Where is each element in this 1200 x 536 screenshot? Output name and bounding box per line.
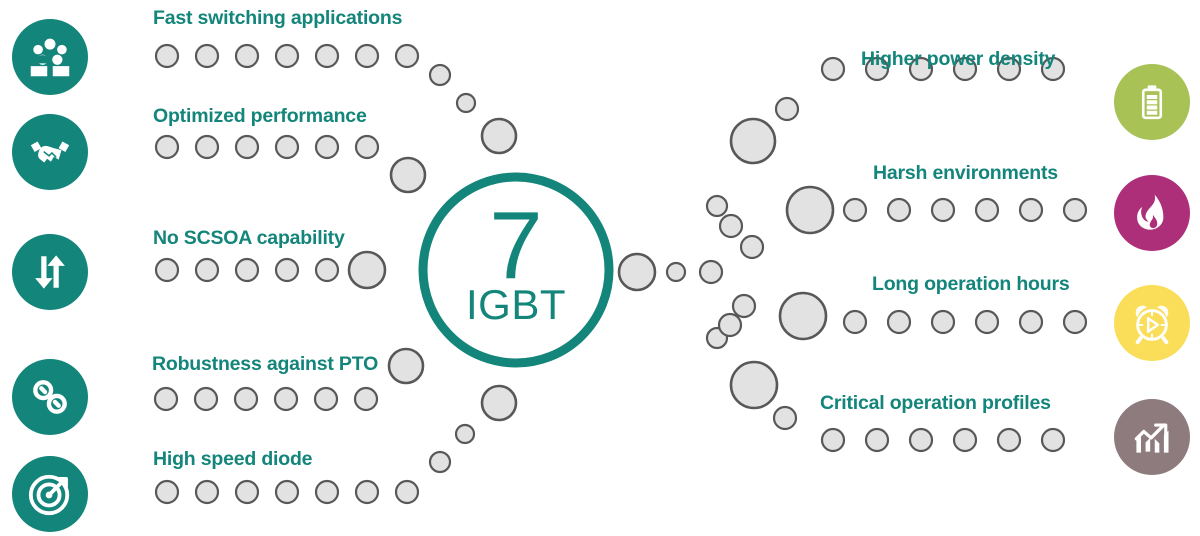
bubble-right-arc-4 <box>733 295 755 317</box>
bubble-left-row0-6 <box>396 45 418 67</box>
bubble-right-arc-11 <box>774 407 796 429</box>
bubble-left-row3-4 <box>315 388 337 410</box>
bubble-right-row3-1 <box>866 429 888 451</box>
bubble-left-row4-5 <box>356 481 378 503</box>
bubble-right-row3-5 <box>1042 429 1064 451</box>
bubble-right-row1-2 <box>932 199 954 221</box>
bubble-left-row2-4 <box>316 259 338 281</box>
bubble-right-row3-0 <box>822 429 844 451</box>
bubble-right-row1-4 <box>1020 199 1042 221</box>
bubble-right-row2-2 <box>932 311 954 333</box>
battery-icon-glyph <box>1131 81 1173 123</box>
bubble-left-row4-1 <box>196 481 218 503</box>
bubble-right-row1-5 <box>1064 199 1086 221</box>
left-label-4: High speed diode <box>153 450 312 470</box>
bubble-left-arc-0 <box>430 65 450 85</box>
bubble-left-arc-4 <box>349 252 385 288</box>
bubble-right-row3-3 <box>954 429 976 451</box>
bubble-left-row4-6 <box>396 481 418 503</box>
bubble-left-row0-1 <box>196 45 218 67</box>
bubble-left-arc-7 <box>456 425 474 443</box>
igbt-infographic: Fast switching applications Optimized pe… <box>0 0 1200 536</box>
bubble-left-row1-1 <box>196 136 218 158</box>
growth-chart-icon-glyph <box>1130 415 1174 459</box>
bubble-right-row2-5 <box>1064 311 1086 333</box>
bubble-right-row2-0 <box>844 311 866 333</box>
up-down-arrows-icon[interactable] <box>12 234 88 310</box>
bubble-right-arc-6 <box>731 119 775 163</box>
bubble-left-row4-3 <box>276 481 298 503</box>
bubble-left-row3-2 <box>235 388 257 410</box>
bubble-right-row3-2 <box>910 429 932 451</box>
up-down-arrows-icon-glyph <box>29 251 71 293</box>
right-label-3: Critical operation profiles <box>820 394 1051 414</box>
bubble-right-row1-3 <box>976 199 998 221</box>
bubble-left-row3-1 <box>195 388 217 410</box>
bubble-left-row1-2 <box>236 136 258 158</box>
bubble-left-row0-0 <box>156 45 178 67</box>
bubble-center-connector-1 <box>667 263 685 281</box>
audience-icon-glyph <box>28 35 72 79</box>
bubble-left-arc-1 <box>457 94 475 112</box>
bubble-left-row4-2 <box>236 481 258 503</box>
bubble-center-connector-0 <box>619 254 655 290</box>
flame-icon-glyph <box>1131 192 1173 234</box>
bubble-left-row1-0 <box>156 136 178 158</box>
bubble-right-arc-8 <box>787 187 833 233</box>
chain-link-icon[interactable] <box>12 359 88 435</box>
center-number: 7 <box>416 198 616 294</box>
bubble-left-row0-3 <box>276 45 298 67</box>
alarm-clock-icon[interactable] <box>1114 285 1190 361</box>
left-label-2: No SCSOA capability <box>153 229 345 249</box>
bubble-left-arc-8 <box>430 452 450 472</box>
left-label-3: Robustness against PTO <box>152 355 378 375</box>
bubble-left-arc-3 <box>391 158 425 192</box>
bubble-left-row2-3 <box>276 259 298 281</box>
handshake-icon-glyph <box>27 129 73 175</box>
bubble-right-row2-3 <box>976 311 998 333</box>
target-icon[interactable] <box>12 456 88 532</box>
right-label-2: Long operation hours <box>872 275 1069 295</box>
bubble-center-connector-2 <box>700 261 722 283</box>
left-label-0: Fast switching applications <box>153 9 402 29</box>
bubble-right-arc-5 <box>719 314 741 336</box>
bubble-left-row3-0 <box>155 388 177 410</box>
bubble-left-row4-0 <box>156 481 178 503</box>
bubble-left-row3-5 <box>355 388 377 410</box>
bubble-left-arc-6 <box>482 386 516 420</box>
bubble-right-arc-10 <box>731 362 777 408</box>
bubble-left-row2-2 <box>236 259 258 281</box>
flame-icon[interactable] <box>1114 175 1190 251</box>
bubble-left-row2-0 <box>156 259 178 281</box>
bubble-right-arc-0 <box>707 196 727 216</box>
bubble-left-arc-5 <box>389 349 423 383</box>
bubble-right-row3-4 <box>998 429 1020 451</box>
chain-link-icon-glyph <box>29 376 71 418</box>
bubble-right-row1-1 <box>888 199 910 221</box>
bubble-left-row3-3 <box>275 388 297 410</box>
bubble-left-row0-2 <box>236 45 258 67</box>
bubble-right-row1-0 <box>844 199 866 221</box>
bubble-left-row1-3 <box>276 136 298 158</box>
battery-icon[interactable] <box>1114 64 1190 140</box>
bubble-left-row1-4 <box>316 136 338 158</box>
right-label-0: Higher power density <box>861 50 1055 70</box>
bubble-right-arc-9 <box>780 293 826 339</box>
target-icon-glyph <box>27 471 73 517</box>
bubble-right-arc-2 <box>741 236 763 258</box>
bubble-right-arc-1 <box>720 215 742 237</box>
audience-icon[interactable] <box>12 19 88 95</box>
center-subtitle: IGBT <box>416 284 616 326</box>
growth-chart-icon[interactable] <box>1114 399 1190 475</box>
left-label-1: Optimized performance <box>153 107 367 127</box>
bubble-right-row2-1 <box>888 311 910 333</box>
bubble-left-row0-5 <box>356 45 378 67</box>
bubble-left-arc-2 <box>482 119 516 153</box>
handshake-icon[interactable] <box>12 114 88 190</box>
alarm-clock-icon-glyph <box>1129 300 1175 346</box>
bubble-left-row1-5 <box>356 136 378 158</box>
bubble-right-row2-4 <box>1020 311 1042 333</box>
bubble-left-row2-1 <box>196 259 218 281</box>
bubble-right-row0-0 <box>822 58 844 80</box>
bubble-right-arc-7 <box>776 98 798 120</box>
right-label-1: Harsh environments <box>873 164 1058 184</box>
bubble-left-row4-4 <box>316 481 338 503</box>
bubble-left-row0-4 <box>316 45 338 67</box>
